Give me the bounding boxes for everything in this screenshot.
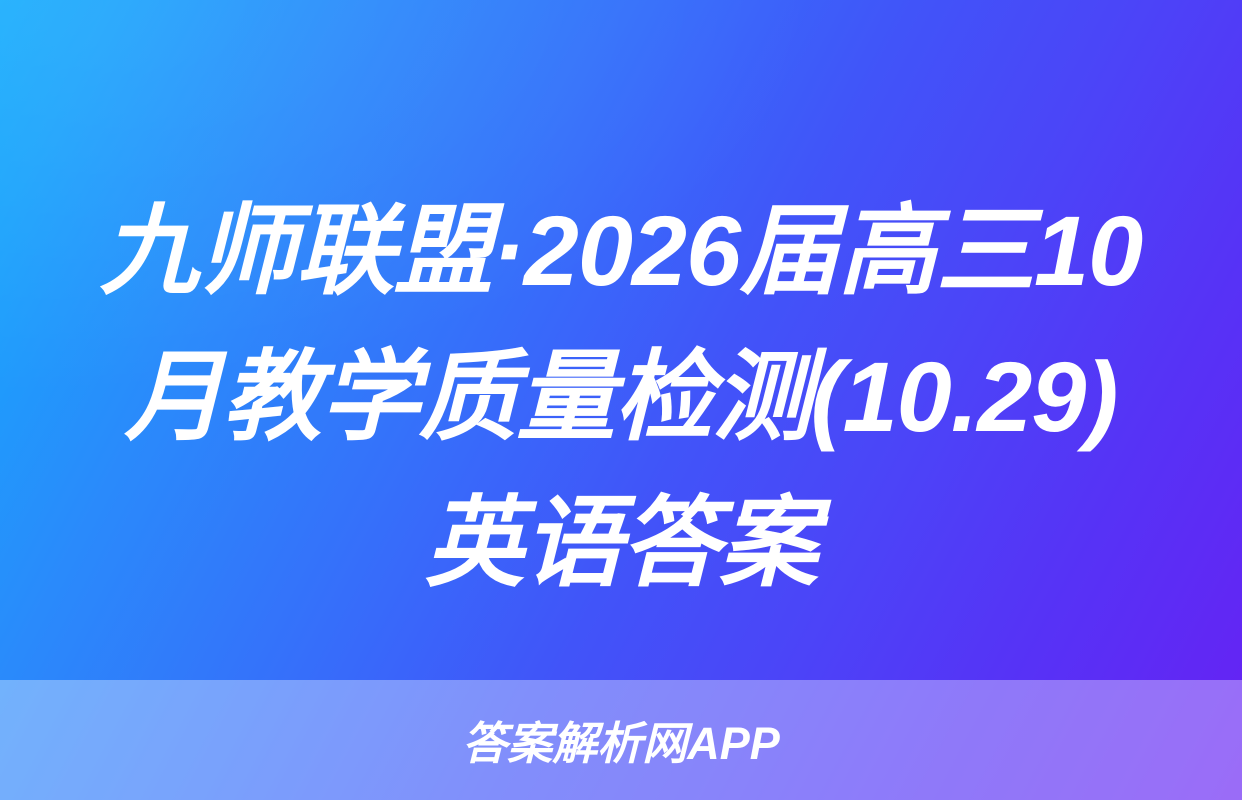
title-line-1: 九师联盟·2026届高三10: [62, 178, 1180, 324]
watermark-app-label: 答案解析网APP: [462, 721, 780, 766]
cover-card: 九师联盟·2026届高三10 月教学质量检测(10.29) 英语答案 答案解析网…: [0, 0, 1242, 800]
title-line-3: 英语答案: [62, 470, 1180, 616]
title-line-2: 月教学质量检测(10.29): [62, 324, 1180, 470]
footer-watermark-band: 答案解析网APP: [0, 680, 1242, 800]
page-title: 九师联盟·2026届高三10 月教学质量检测(10.29) 英语答案: [0, 178, 1242, 616]
